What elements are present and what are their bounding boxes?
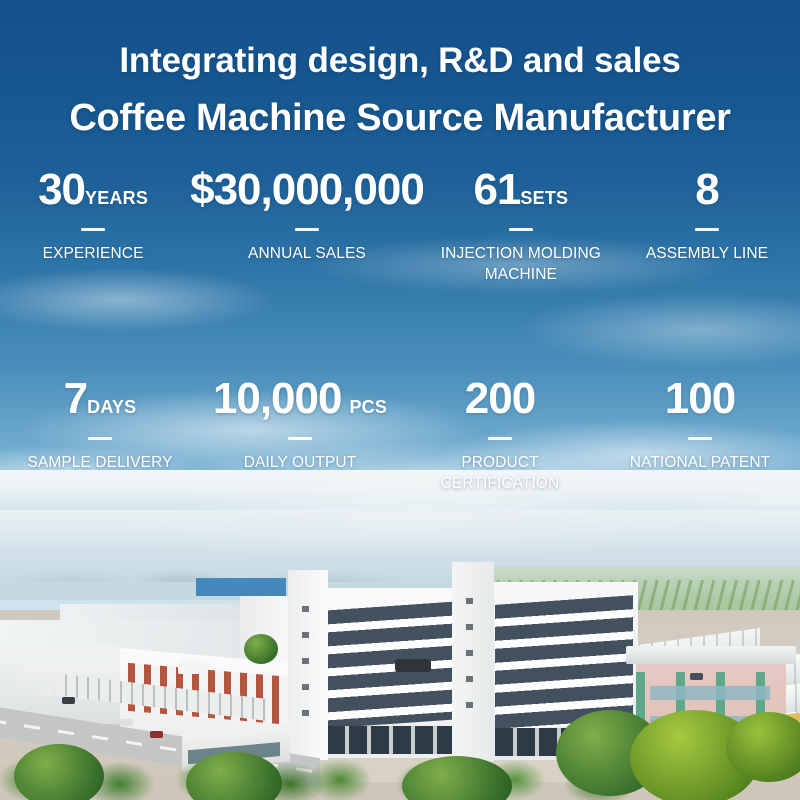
window-bands	[327, 602, 453, 729]
stat-unit: SETS	[520, 188, 568, 208]
stat-number: 100	[665, 374, 735, 423]
car	[120, 719, 133, 726]
headline-subtitle: Integrating design, R&D and sales	[0, 41, 800, 81]
statistics-grid: 30YEARS EXPERIENCE $30,000,000 ANNUAL SA…	[0, 168, 800, 494]
stat-number: $30,000,000	[190, 165, 424, 214]
stat-divider	[81, 228, 105, 231]
statistics-row-1: 30YEARS EXPERIENCE $30,000,000 ANNUAL SA…	[0, 168, 800, 285]
stat-value: 61SETS	[432, 168, 610, 212]
tree	[244, 634, 278, 664]
stat-divider	[295, 228, 319, 231]
tree	[14, 744, 104, 800]
factory-block-a	[322, 588, 458, 758]
stat-label: INJECTION MOLDING MACHINE	[432, 244, 610, 285]
stat-value: 8	[618, 168, 796, 212]
stat-product-certification: 200 PRODUCT CERTIFICATION	[400, 377, 600, 494]
stat-divider	[695, 228, 719, 231]
stat-divider	[288, 437, 312, 440]
stat-value: 30YEARS	[4, 168, 182, 212]
stat-value: 200	[404, 377, 596, 421]
tower-windows	[452, 578, 494, 728]
stat-value: $30,000,000	[190, 168, 424, 212]
stat-number: 7	[64, 374, 87, 423]
roof-slab	[626, 646, 796, 664]
stair-tower-left	[288, 570, 328, 760]
stat-number: 200	[465, 374, 535, 423]
stat-divider	[488, 437, 512, 440]
factory-photo	[0, 470, 800, 800]
stat-label: EXPERIENCE	[4, 244, 182, 265]
dark-van	[395, 659, 431, 672]
stat-label: NATIONAL PATENT	[604, 453, 796, 474]
stat-unit: DAYS	[87, 397, 136, 417]
car	[62, 697, 75, 704]
stat-sample-delivery: 7DAYS SAMPLE DELIVERY	[0, 377, 200, 494]
stat-value: 7DAYS	[4, 377, 196, 421]
stat-unit: YEARS	[85, 188, 148, 208]
stat-label: ANNUAL SALES	[190, 244, 424, 265]
stat-experience: 30YEARS EXPERIENCE	[0, 168, 186, 285]
stat-injection-molding-machine: 61SETS INJECTION MOLDING MACHINE	[428, 168, 614, 285]
stat-annual-sales: $30,000,000 ANNUAL SALES	[186, 168, 428, 285]
stair-tower-right	[452, 562, 494, 762]
blue-roof-far	[196, 578, 286, 596]
stat-divider	[509, 228, 533, 231]
stat-label: ASSEMBLY LINE	[618, 244, 796, 265]
car	[150, 731, 163, 738]
stat-label: SAMPLE DELIVERY	[4, 453, 196, 474]
headline-group: Integrating design, R&D and sales Coffee…	[0, 0, 800, 140]
headline-title: Coffee Machine Source Manufacturer	[0, 97, 800, 140]
stat-number: 61	[473, 165, 520, 214]
statistics-row-2: 7DAYS SAMPLE DELIVERY 10,000PCS DAILY OU…	[0, 377, 800, 494]
white-truck	[178, 660, 208, 674]
stat-assembly-line: 8 ASSEMBLY LINE	[614, 168, 800, 285]
stat-number: 8	[695, 165, 718, 214]
car	[690, 673, 703, 680]
stat-national-patent: 100 NATIONAL PATENT	[600, 377, 800, 494]
stat-unit: PCS	[349, 397, 387, 417]
car	[40, 689, 53, 696]
stat-number: 10,000	[213, 374, 342, 423]
stat-divider	[688, 437, 712, 440]
stat-number: 30	[38, 165, 85, 214]
stat-divider	[88, 437, 112, 440]
stat-daily-output: 10,000PCS DAILY OUTPUT	[200, 377, 400, 494]
promo-banner: Integrating design, R&D and sales Coffee…	[0, 0, 800, 800]
stat-value: 100	[604, 377, 796, 421]
tower-windows	[288, 586, 328, 736]
stat-label: PRODUCT CERTIFICATION	[404, 453, 596, 494]
stat-value: 10,000PCS	[204, 377, 396, 421]
stat-label: DAILY OUTPUT	[204, 453, 396, 474]
